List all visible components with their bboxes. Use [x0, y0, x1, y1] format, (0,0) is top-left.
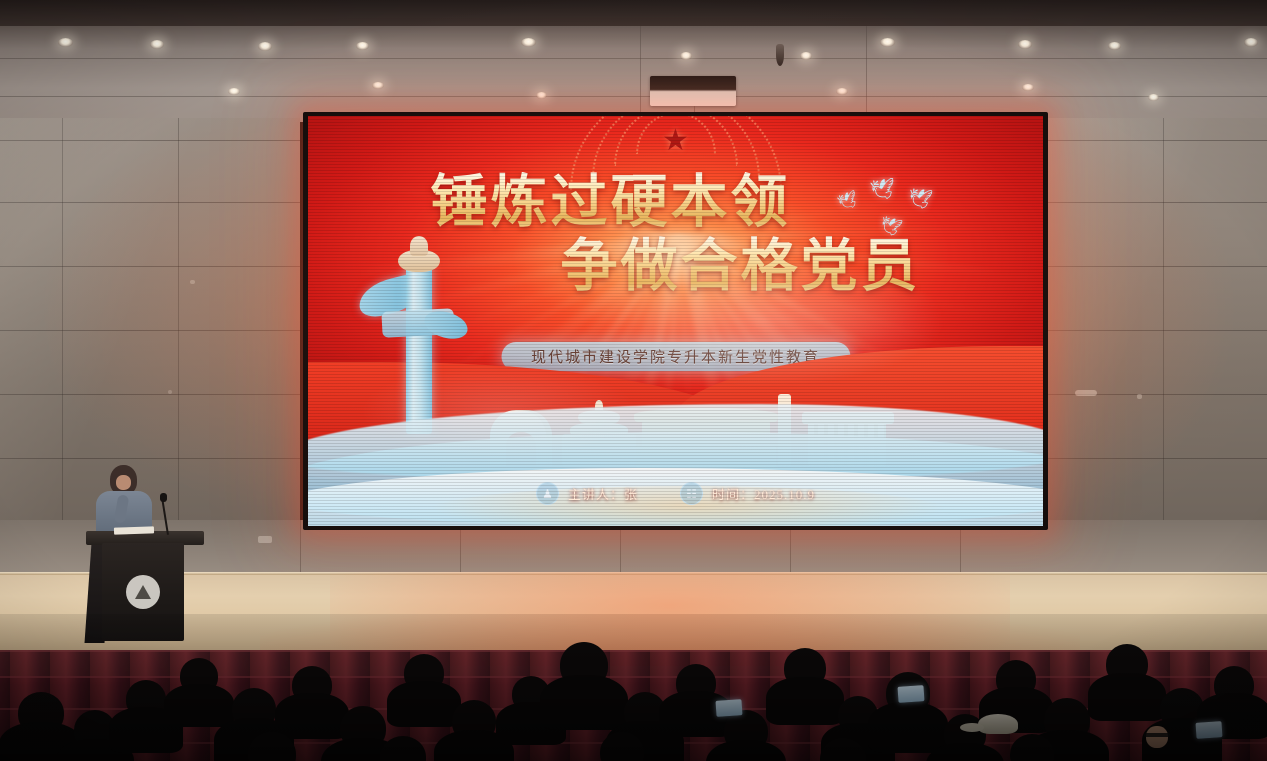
ceiling-spotlight	[150, 40, 164, 49]
ceiling-spotlight	[1018, 40, 1032, 49]
auditorium-photo: ★ 🕊🕊🕊🕊 锤炼过硬本领 争做合格党员 现代城市建设学院专升本新生党性教育	[0, 0, 1267, 761]
person-icon: ♟	[536, 482, 559, 505]
ceiling-dark-band	[0, 0, 1267, 26]
slide-speaker-text: 主讲人：张	[568, 484, 638, 503]
ceiling-spotlight	[58, 38, 73, 47]
slide-date-meta: ☷ 时间：2025.10.9	[680, 482, 815, 505]
ceiling-spotlight	[228, 88, 240, 95]
audience-member	[404, 654, 444, 692]
ceiling-seam-vertical	[640, 26, 641, 122]
led-screen-bezel: ★ 🕊🕊🕊🕊 锤炼过硬本领 争做合格党员 现代城市建设学院专升本新生党性教育	[303, 112, 1048, 530]
white-cap	[978, 714, 1018, 734]
audience-member	[996, 660, 1036, 698]
audience-area	[0, 614, 1267, 761]
ceiling-spotlight	[536, 92, 547, 99]
audience-member	[292, 666, 332, 704]
presenter-face	[116, 475, 131, 490]
microphone-icon	[160, 493, 167, 502]
huabiao-finial	[410, 236, 428, 256]
audience-member	[560, 642, 608, 688]
audience-member	[1214, 666, 1254, 704]
phone-screen-2	[715, 699, 742, 717]
audience-member	[452, 700, 496, 742]
slide-speaker-meta: ♟ 主讲人：张	[536, 482, 638, 505]
ceiling-spotlight	[1148, 94, 1159, 101]
ceiling-spotlight	[880, 38, 895, 47]
presentation-slide: ★ 🕊🕊🕊🕊 锤炼过硬本领 争做合格党员 现代城市建设学院专升本新生党性教育	[308, 116, 1043, 526]
huabiao-shaft	[406, 266, 432, 434]
audience-member	[340, 706, 386, 750]
audience-member	[784, 648, 826, 688]
ceiling-spotlight	[521, 38, 536, 47]
ceiling-spotlight	[356, 42, 369, 50]
audience-member	[126, 680, 166, 718]
ceiling-spotlight	[1108, 42, 1121, 50]
audience-member	[676, 664, 716, 702]
ceiling-vent	[650, 76, 736, 106]
calendar-icon: ☷	[680, 482, 703, 505]
audience-member	[724, 710, 768, 752]
ceiling-spotlight	[800, 52, 812, 60]
audience-member	[1106, 644, 1148, 684]
ceiling	[0, 0, 1267, 122]
ceiling-seam	[0, 58, 1267, 59]
ceiling-spotlight	[1022, 84, 1034, 91]
ceiling-spotlight	[372, 82, 384, 89]
triangle-mountain-logo-icon	[135, 585, 151, 599]
ceiling-spotlight	[836, 88, 848, 95]
eyeglasses-icon	[1144, 733, 1170, 737]
wall-right	[1045, 118, 1267, 542]
lectern-papers	[114, 526, 154, 534]
ceiling-seam	[0, 96, 1267, 97]
ceiling-spotlight	[1244, 38, 1258, 47]
ceiling-sensor	[776, 44, 784, 66]
ceiling-seam-vertical	[866, 26, 867, 122]
phone-screen-1	[897, 685, 924, 703]
lectern-emblem	[126, 575, 160, 609]
ceiling-spotlight	[680, 52, 692, 60]
audience-face-glasses	[1146, 726, 1168, 748]
slide-meta-row: ♟ 主讲人：张 ☷ 时间：2025.10.9	[308, 482, 1043, 505]
slide-title-line-1: 锤炼过硬本领	[308, 172, 1043, 234]
phone-screen-3	[1195, 721, 1222, 739]
ceiling-spotlight	[258, 42, 272, 51]
audience-member	[232, 688, 276, 730]
microphone-stem	[161, 497, 169, 535]
red-star-icon: ★	[662, 126, 689, 156]
slide-subtitle: 现代城市建设学院专升本新生党性教育	[531, 346, 820, 367]
audience-member	[180, 658, 218, 694]
huabiao-column	[360, 236, 470, 436]
audience-member	[18, 692, 64, 734]
audience-member	[1044, 698, 1090, 742]
slide-date-text: 时间：2025.10.9	[712, 484, 815, 503]
